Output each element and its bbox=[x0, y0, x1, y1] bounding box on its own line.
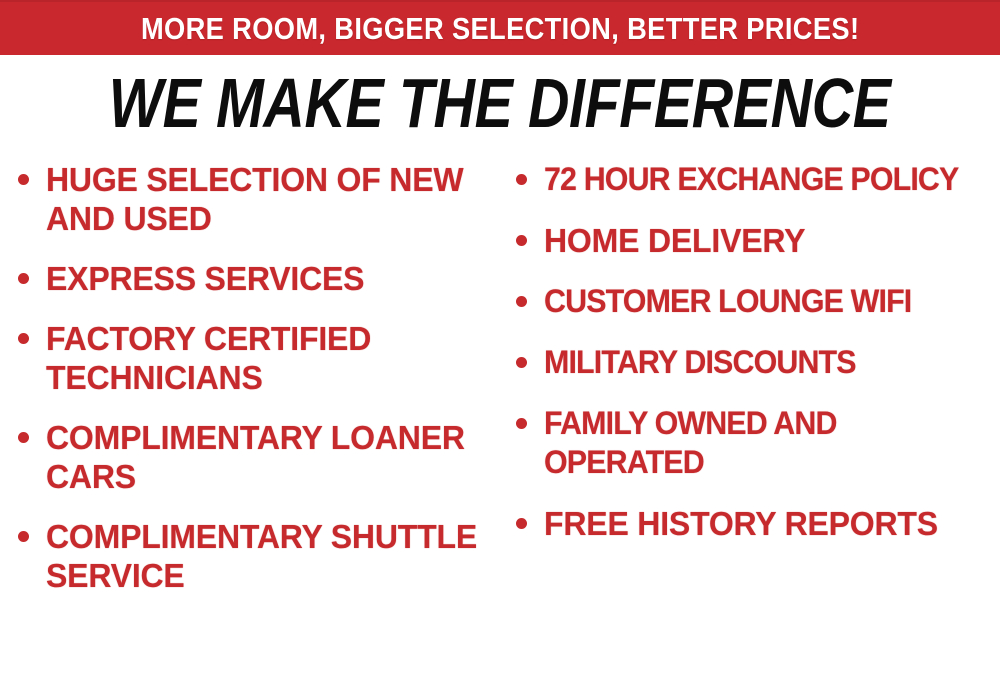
benefits-columns: HUGE SELECTION OF NEW AND USED EXPRESS S… bbox=[0, 160, 1000, 694]
list-item-label: MILITARY DISCOUNTS bbox=[544, 343, 977, 382]
list-item-label: CUSTOMER LOUNGE WIFI bbox=[544, 282, 977, 321]
list-item-label: FAMILY OWNED AND OPERATED bbox=[544, 404, 977, 482]
list-item: FACTORY CERTIFIED TECHNICIANS bbox=[18, 319, 496, 397]
list-item-label: HOME DELIVERY bbox=[544, 221, 986, 260]
bullet-dot-icon bbox=[516, 235, 527, 246]
bullet-dot-icon bbox=[18, 174, 29, 185]
list-item-label: COMPLIMENTARY LOANER CARS bbox=[46, 418, 483, 496]
list-item: FREE HISTORY REPORTS bbox=[516, 504, 1000, 543]
banner-headline: MORE ROOM, BIGGER SELECTION, BETTER PRIC… bbox=[141, 13, 859, 44]
list-item: HOME DELIVERY bbox=[516, 221, 1000, 260]
bullet-dot-icon bbox=[516, 174, 527, 185]
bullet-dot-icon bbox=[516, 296, 527, 307]
list-item: FAMILY OWNED AND OPERATED bbox=[516, 404, 1000, 482]
benefits-column-right: 72 HOUR EXCHANGE POLICY HOME DELIVERY CU… bbox=[516, 160, 1000, 565]
benefits-column-left: HUGE SELECTION OF NEW AND USED EXPRESS S… bbox=[18, 160, 496, 616]
list-item-label: EXPRESS SERVICES bbox=[46, 259, 483, 298]
list-item: COMPLIMENTARY SHUTTLE SERVICE bbox=[18, 517, 496, 595]
bullet-dot-icon bbox=[516, 357, 527, 368]
list-item-label: COMPLIMENTARY SHUTTLE SERVICE bbox=[46, 517, 483, 595]
bullet-dot-icon bbox=[516, 518, 527, 529]
bullet-dot-icon bbox=[18, 531, 29, 542]
list-item: CUSTOMER LOUNGE WIFI bbox=[516, 282, 1000, 321]
list-item-label: HUGE SELECTION OF NEW AND USED bbox=[46, 160, 483, 238]
list-item: MILITARY DISCOUNTS bbox=[516, 343, 1000, 382]
bullet-dot-icon bbox=[18, 333, 29, 344]
promo-poster: MORE ROOM, BIGGER SELECTION, BETTER PRIC… bbox=[0, 0, 1000, 694]
headline-container: WE MAKE THE DIFFERENCE bbox=[0, 68, 1000, 138]
bullet-dot-icon bbox=[18, 273, 29, 284]
list-item: HUGE SELECTION OF NEW AND USED bbox=[18, 160, 496, 238]
page-title: WE MAKE THE DIFFERENCE bbox=[109, 68, 891, 138]
list-item: EXPRESS SERVICES bbox=[18, 259, 496, 298]
list-item-label: FACTORY CERTIFIED TECHNICIANS bbox=[46, 319, 483, 397]
bullet-dot-icon bbox=[18, 432, 29, 443]
list-item: COMPLIMENTARY LOANER CARS bbox=[18, 418, 496, 496]
list-item: 72 HOUR EXCHANGE POLICY bbox=[516, 160, 1000, 199]
list-item-label: FREE HISTORY REPORTS bbox=[544, 504, 986, 543]
list-item-label: 72 HOUR EXCHANGE POLICY bbox=[544, 160, 977, 199]
bullet-dot-icon bbox=[516, 418, 527, 429]
top-banner: MORE ROOM, BIGGER SELECTION, BETTER PRIC… bbox=[0, 0, 1000, 55]
